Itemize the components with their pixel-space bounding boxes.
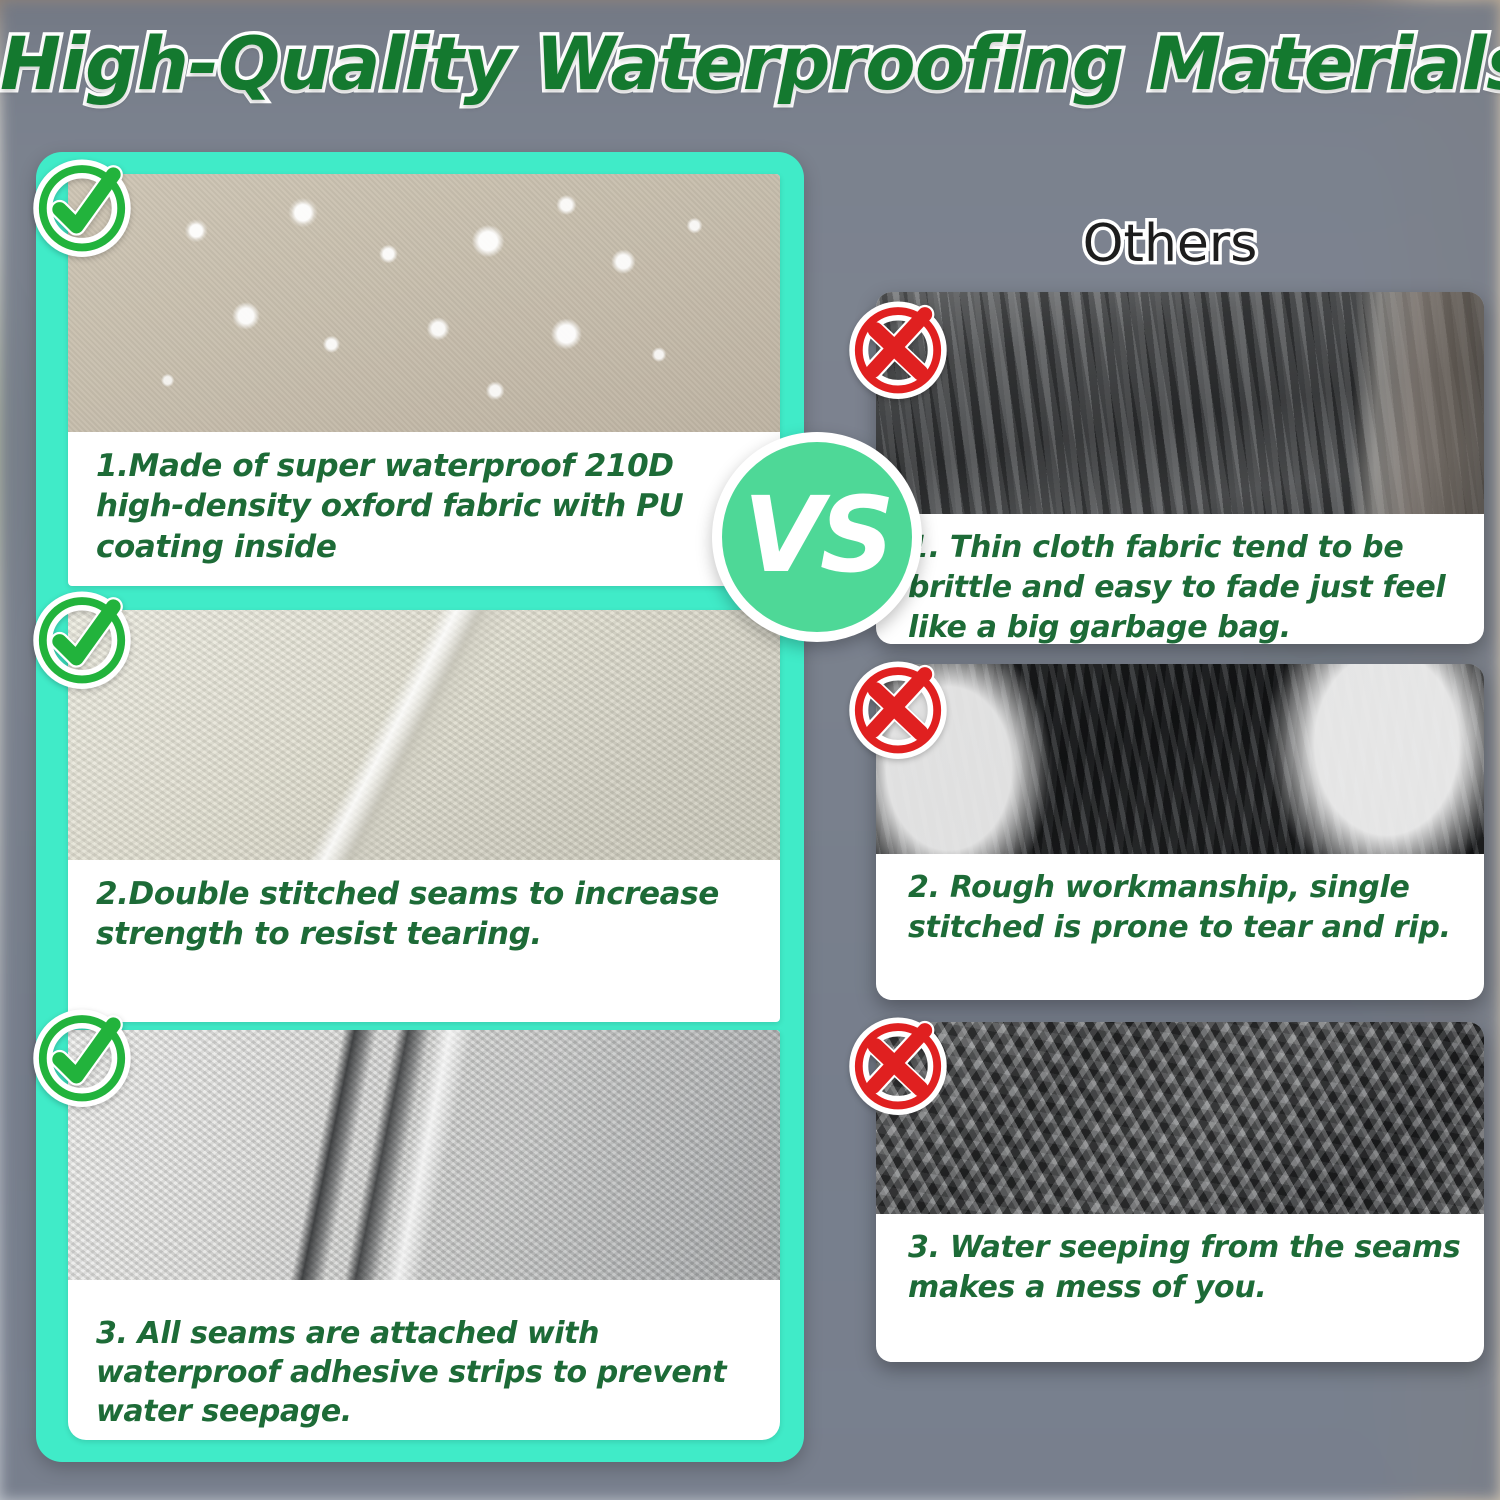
others-heading: Others <box>1020 214 1320 274</box>
ours-caption-3: 3. All seams are attached with waterproo… <box>68 1280 780 1440</box>
ours-photo-2-double-stitch <box>68 610 780 860</box>
others-caption-1: 1. Thin cloth fabric tend to be brittle … <box>876 514 1484 660</box>
x-circle-icon <box>842 652 954 764</box>
ours-photo-3-adhesive-strip <box>68 1030 780 1280</box>
vs-label: VS <box>743 483 890 587</box>
check-circle-icon <box>26 1000 138 1112</box>
others-photo-3-crumpled-plastic <box>876 1022 1484 1214</box>
others-photo-1-thin-tarp <box>876 292 1484 514</box>
check-circle-icon <box>26 150 138 262</box>
ours-card-3: 3. All seams are attached with waterproo… <box>68 1030 780 1440</box>
ours-caption-2: 2.Double stitched seams to increase stre… <box>68 860 780 965</box>
ours-card-2: 2.Double stitched seams to increase stre… <box>68 610 780 1022</box>
others-card-3: 3. Water seeping from the seams makes a … <box>876 1022 1484 1362</box>
others-card-2: 2. Rough workmanship, single stitched is… <box>876 664 1484 1000</box>
check-circle-icon <box>26 582 138 694</box>
vs-badge: VS <box>712 432 922 642</box>
ours-photo-1-water-droplets <box>68 174 780 432</box>
others-card-1: 1. Thin cloth fabric tend to be brittle … <box>876 292 1484 644</box>
others-photo-2-single-stitch <box>876 664 1484 854</box>
page-title: High-Quality Waterproofing Materials <box>0 22 1500 107</box>
ours-caption-1: 1.Made of super waterproof 210D high-den… <box>68 432 780 577</box>
others-caption-2: 2. Rough workmanship, single stitched is… <box>876 854 1484 960</box>
others-caption-3: 3. Water seeping from the seams makes a … <box>876 1214 1484 1320</box>
x-circle-icon <box>842 292 954 404</box>
ours-card-1: 1.Made of super waterproof 210D high-den… <box>68 174 780 586</box>
ours-panel: 1.Made of super waterproof 210D high-den… <box>36 152 804 1462</box>
x-circle-icon <box>842 1008 954 1120</box>
comparison-board: 1.Made of super waterproof 210D high-den… <box>0 0 1500 1500</box>
